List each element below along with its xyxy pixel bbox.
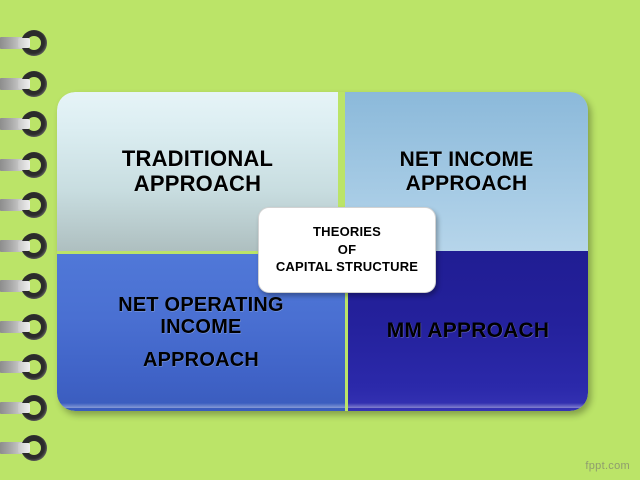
spiral-ring-icon: [0, 152, 52, 178]
watermark: fppt.com: [585, 460, 630, 472]
spiral-ring-highlight: [18, 362, 30, 372]
spiral-ring-icon: [0, 435, 52, 461]
quadrant-label-net-operating-income-approach-word: APPROACH: [143, 349, 259, 371]
spiral-ring-highlight: [18, 241, 30, 251]
center-callout-theories-of-capital-structure[interactable]: THEORIES OF CAPITAL STRUCTURE: [258, 207, 436, 293]
gloss-sheen: [57, 403, 345, 408]
spiral-ring-icon: [0, 354, 52, 380]
quadrant-label-net-operating-income-approach: NET OPERATING INCOME: [118, 294, 284, 338]
spiral-ring-highlight: [18, 403, 30, 413]
spiral-ring-highlight: [18, 281, 30, 291]
spiral-ring-highlight: [18, 160, 30, 170]
spiral-ring-icon: [0, 71, 52, 97]
spiral-ring-highlight: [18, 443, 30, 453]
quadrant-label-net-income-approach: NET INCOME APPROACH: [400, 148, 534, 195]
spiral-ring-highlight: [18, 119, 30, 129]
spiral-ring-icon: [0, 233, 52, 259]
quadrant-label-mm-approach: MM APPROACH: [387, 319, 549, 343]
quadrant-label-group-net-operating-income: NET OPERATING INCOME APPROACH: [118, 294, 284, 371]
quadrant-label-traditional-approach: TRADITIONAL APPROACH: [122, 147, 273, 196]
callout-line-2: OF: [338, 243, 356, 258]
spiral-ring-highlight: [18, 322, 30, 332]
label-spacer: [118, 339, 284, 349]
spiral-binding: [0, 0, 56, 480]
spiral-ring-icon: [0, 395, 52, 421]
spiral-ring-highlight: [18, 38, 30, 48]
callout-line-3: CAPITAL STRUCTURE: [276, 260, 418, 275]
gloss-sheen: [348, 403, 588, 408]
spiral-ring-highlight: [18, 79, 30, 89]
spiral-ring-icon: [0, 192, 52, 218]
slide-canvas: TRADITIONAL APPROACH NET INCOME APPROACH…: [0, 0, 640, 480]
spiral-ring-icon: [0, 111, 52, 137]
callout-line-1: THEORIES: [313, 225, 381, 240]
spiral-ring-icon: [0, 30, 52, 56]
spiral-ring-icon: [0, 273, 52, 299]
spiral-ring-highlight: [18, 200, 30, 210]
spiral-ring-icon: [0, 314, 52, 340]
